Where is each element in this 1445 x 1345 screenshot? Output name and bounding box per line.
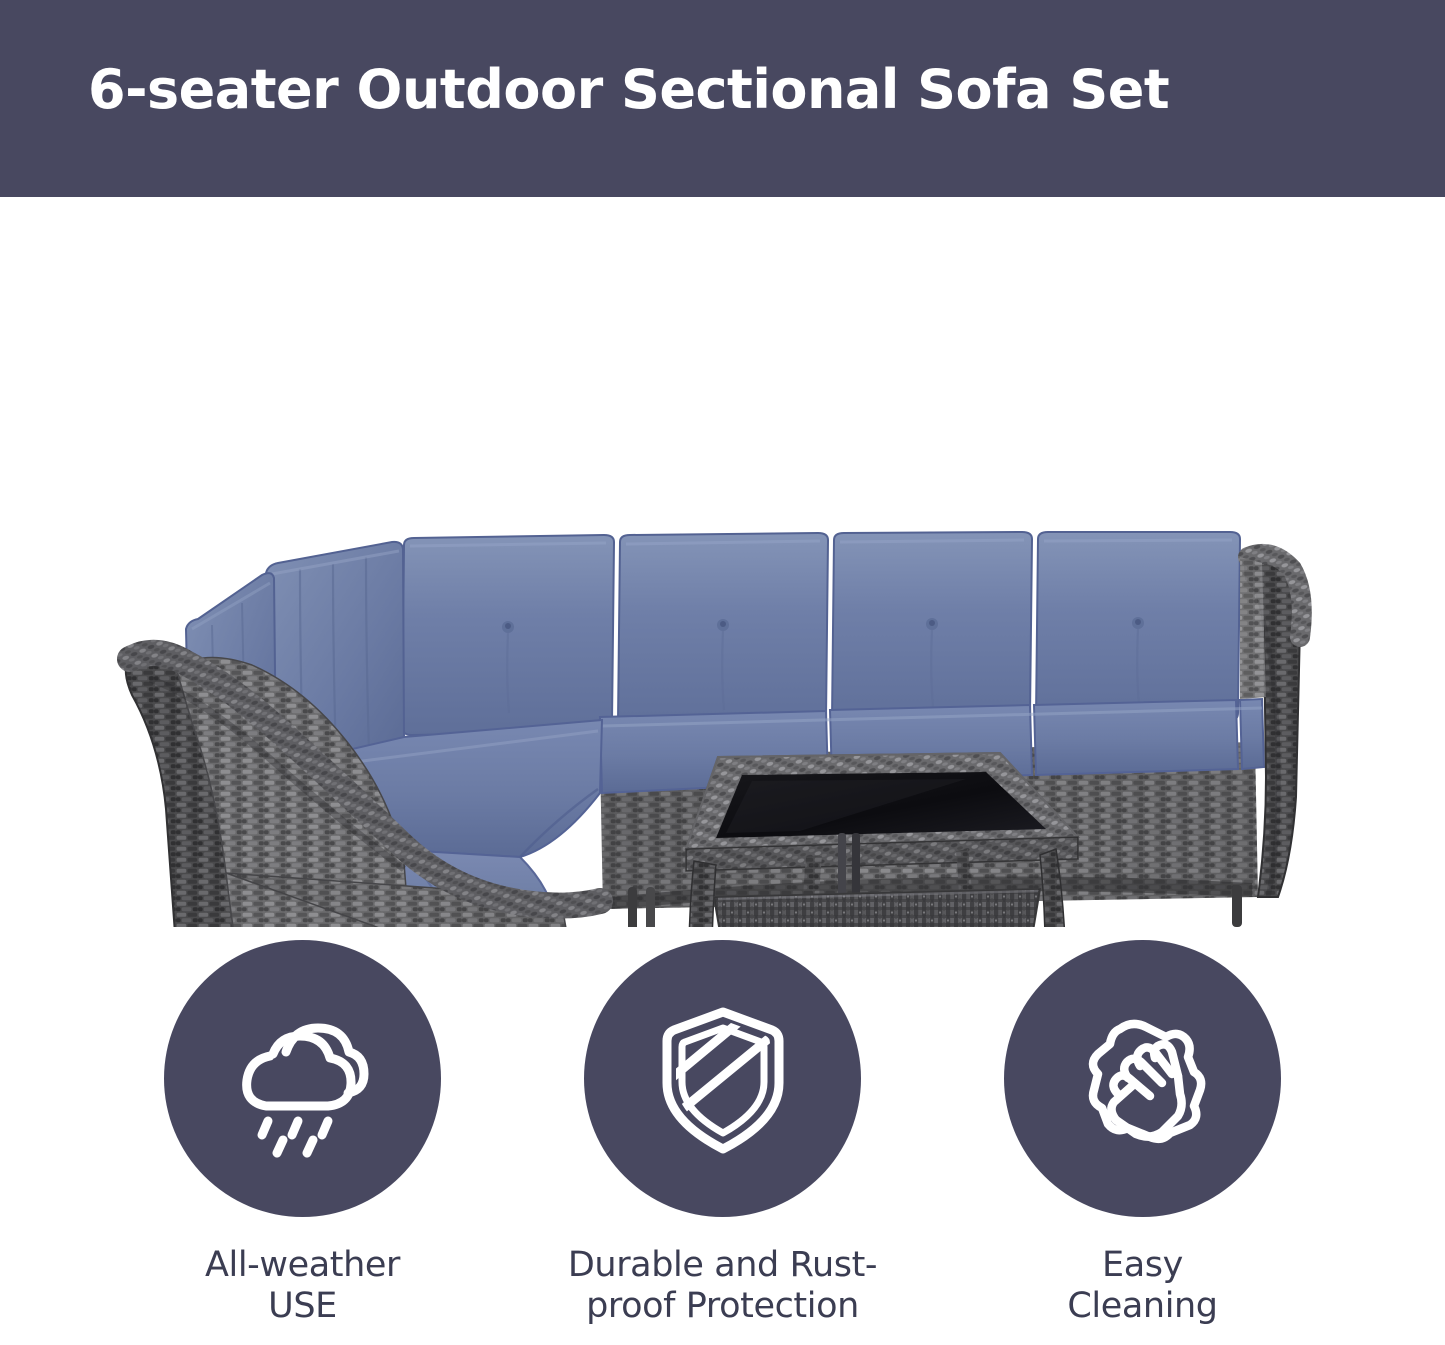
- page-title: 6-seater Outdoor Sectional Sofa Set: [88, 58, 1368, 121]
- shield-icon: [638, 994, 808, 1164]
- feature-label-line2: USE: [268, 1286, 337, 1326]
- coffee-table: [686, 753, 1078, 927]
- feature-label-line1: Durable and Rust-: [568, 1245, 877, 1285]
- feature-circle-all-weather: [164, 940, 441, 1217]
- hand-wipe-cloth-icon: [1058, 994, 1228, 1164]
- feature-label-all-weather: All-weather USE: [205, 1245, 400, 1328]
- features-strip: All-weather USE: [0, 940, 1445, 1345]
- feature-circle-easy-cleaning: [1004, 940, 1281, 1217]
- feature-label-line2: proof Protection: [586, 1286, 859, 1326]
- hero-product-area: [0, 197, 1445, 927]
- feature-item-easy-cleaning: Easy Cleaning: [933, 940, 1353, 1328]
- feature-item-all-weather: All-weather USE: [93, 940, 513, 1328]
- feature-circle-rust-proof: [584, 940, 861, 1217]
- feature-item-rust-proof: Durable and Rust- proof Protection: [513, 940, 933, 1328]
- product-photo: [0, 197, 1445, 927]
- feature-label-line1: All-weather: [205, 1245, 400, 1285]
- feature-label-easy-cleaning: Easy Cleaning: [1067, 1245, 1217, 1328]
- feature-label-line1: Easy: [1102, 1245, 1183, 1285]
- feature-label-line2: Cleaning: [1067, 1286, 1217, 1326]
- feature-label-rust-proof: Durable and Rust- proof Protection: [568, 1245, 877, 1328]
- rain-cloud-icon: [218, 994, 388, 1164]
- header-banner: 6-seater Outdoor Sectional Sofa Set: [0, 0, 1445, 197]
